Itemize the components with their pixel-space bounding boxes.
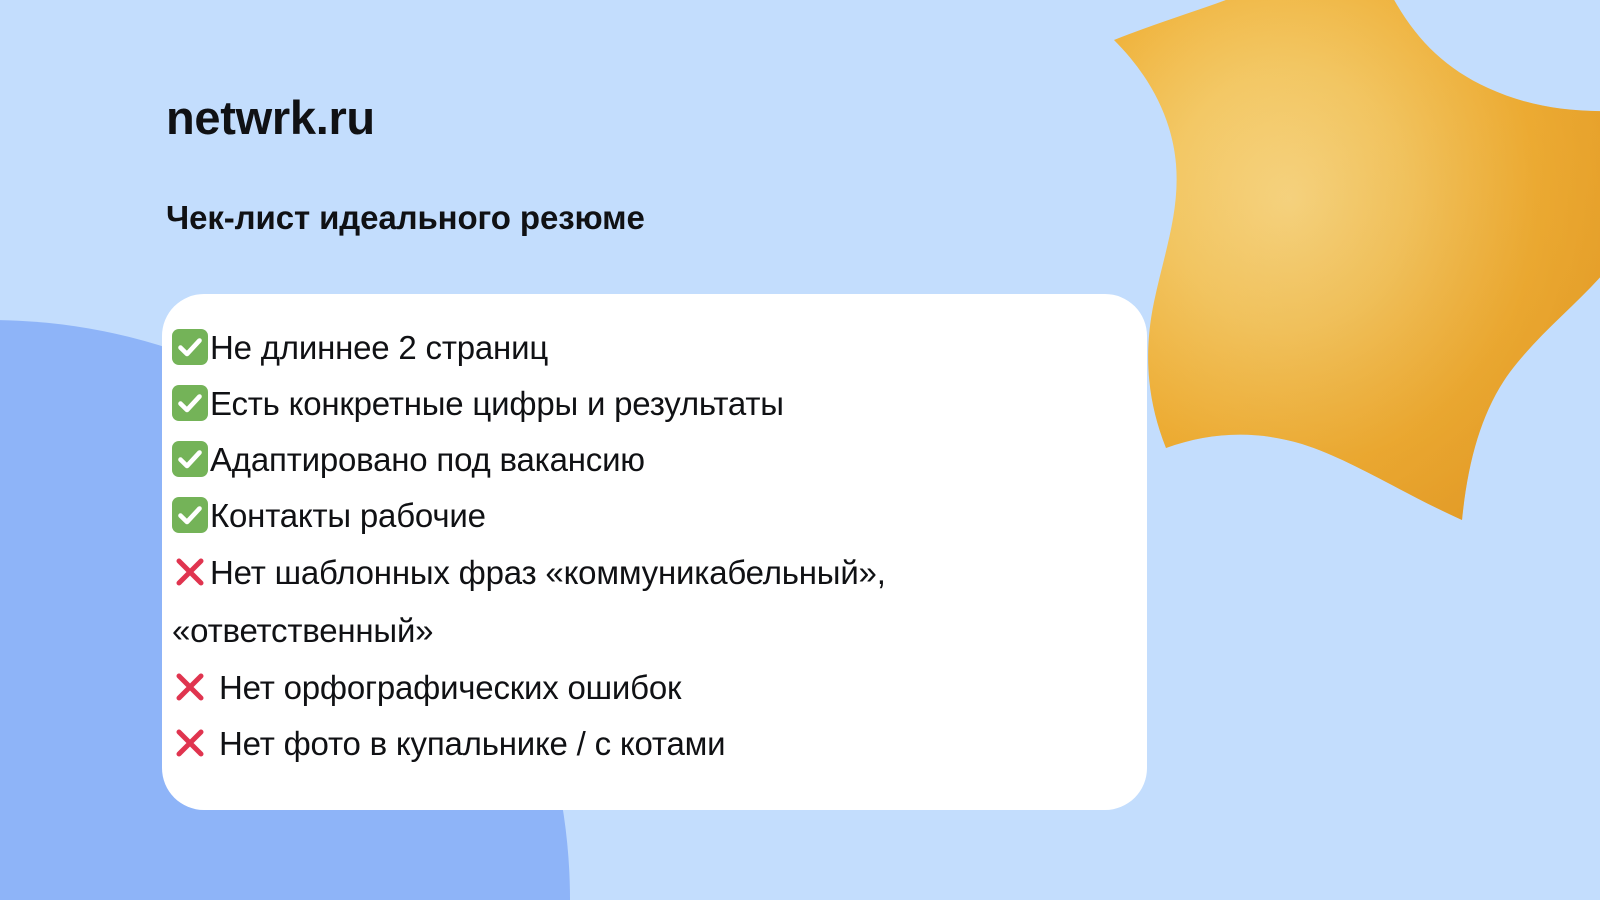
page-subtitle: Чек-лист идеального резюме (166, 198, 645, 238)
checklist-card: Не длиннее 2 страницЕсть конкретные цифр… (162, 294, 1147, 810)
checklist-item-label: Не длиннее 2 страниц (210, 329, 548, 366)
cross-icon (172, 725, 208, 761)
checklist-item-label: Адаптировано под вакансию (210, 441, 645, 478)
page-title: netwrk.ru (166, 92, 375, 144)
cross-icon (172, 554, 208, 590)
check-icon (172, 441, 208, 477)
check-icon (172, 385, 208, 421)
checklist-item: Нет фото в купальнике / с котами (172, 716, 1117, 772)
poster-canvas: netwrk.ru Чек-лист идеального резюме Не … (0, 0, 1600, 900)
checklist-item: Контакты рабочие (172, 488, 1117, 544)
checklist: Не длиннее 2 страницЕсть конкретные цифр… (172, 320, 1117, 772)
checklist-item-label: Нет фото в купальнике / с котами (219, 725, 725, 762)
checklist-item-label: Контакты рабочие (210, 497, 486, 534)
checklist-item: Нет орфографических ошибок (172, 660, 1117, 716)
check-icon (172, 329, 208, 365)
checklist-item: Нет шаблонных фраз «коммуникабельный», «… (172, 544, 1117, 660)
checklist-item-label: Нет орфографических ошибок (219, 669, 681, 706)
cross-icon (172, 669, 208, 705)
checklist-item-label: Нет шаблонных фраз «коммуникабельный», «… (172, 554, 886, 649)
star-decoration (1070, 0, 1600, 540)
checklist-item: Есть конкретные цифры и результаты (172, 376, 1117, 432)
checklist-item-label: Есть конкретные цифры и результаты (210, 385, 784, 422)
checklist-item: Не длиннее 2 страниц (172, 320, 1117, 376)
checklist-item: Адаптировано под вакансию (172, 432, 1117, 488)
check-icon (172, 497, 208, 533)
